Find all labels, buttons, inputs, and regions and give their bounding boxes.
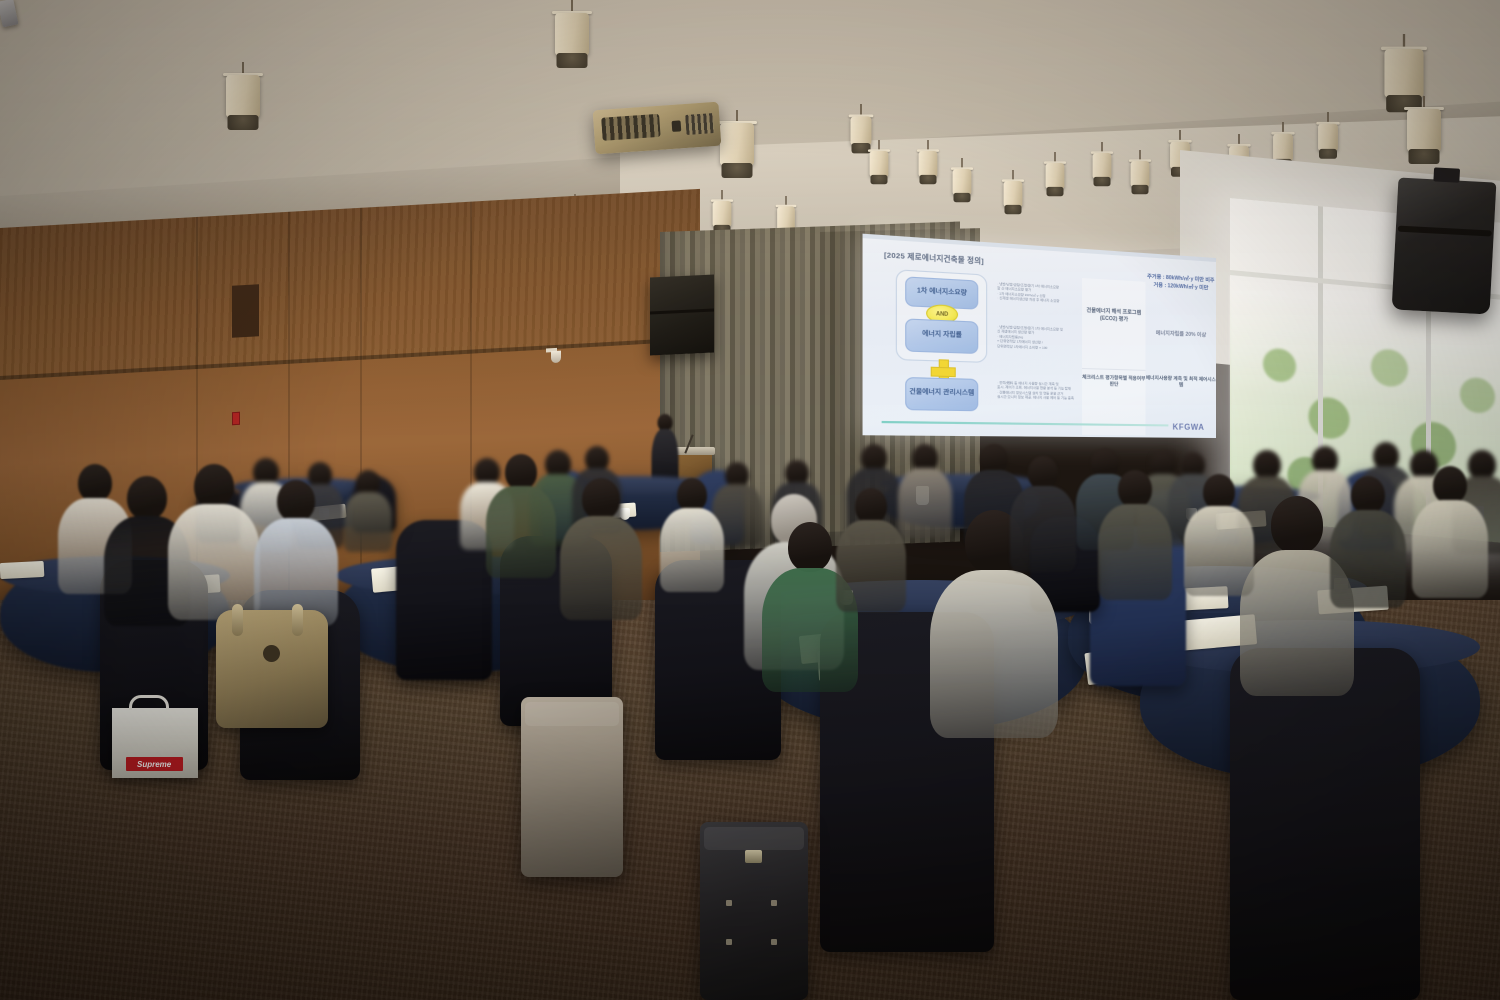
spotlight-body	[713, 201, 732, 227]
attendee	[1330, 476, 1406, 612]
projection-screen: [2025 제로에너지건축물 정의] 1차 에너지소요량 AND 에너지 자립률…	[863, 234, 1216, 438]
spotlight-lens	[1319, 149, 1337, 159]
spotlight-body	[555, 13, 589, 55]
document-paper	[0, 561, 44, 579]
attendee-head	[855, 488, 887, 524]
spotlight-body	[1384, 49, 1423, 97]
attendee-head	[1118, 470, 1152, 508]
attendee	[1412, 466, 1488, 602]
attendee-head	[1271, 496, 1323, 554]
slide-middle-column	[1082, 278, 1145, 435]
tote-brand-label: Supreme	[126, 757, 183, 771]
attendee-head	[127, 476, 167, 520]
attendee-head	[1351, 476, 1385, 514]
attendee	[1098, 470, 1172, 604]
spotlight-lens	[871, 175, 888, 184]
suitcase-lid	[525, 702, 619, 725]
light-gray-rolling-suitcase	[521, 697, 623, 877]
attendee	[836, 488, 906, 616]
attendee-head	[194, 464, 234, 508]
attendee-head	[788, 522, 832, 572]
spotlight-lens	[920, 175, 937, 184]
attendee	[486, 454, 556, 582]
suitcase-stud	[726, 939, 732, 945]
attendee-body	[1412, 500, 1488, 598]
slide-mid-text-checklist: 체크리스트 평가항목별 적용여부 판단	[1082, 374, 1145, 388]
speaker-bracket	[1434, 167, 1461, 182]
suitcase-lid	[704, 827, 803, 850]
tan-backpack	[216, 610, 328, 728]
backpack-strap	[232, 604, 243, 636]
attendee-body	[486, 486, 556, 578]
spotlight-lens	[954, 193, 971, 202]
slide-box-bems: 건물에너지 관리시스템	[905, 377, 978, 411]
attendee	[344, 470, 392, 556]
dark-rolling-suitcase	[700, 822, 808, 1000]
slide-bullets-1: · 냉방/난방/급탕/조명/환기 1차 에너지소요량 합 산 에너지소요량 평가…	[997, 282, 1077, 305]
slide-bullets-3: · 전력/燃料 등 에너지 사용량 실시간 계측 및 표시, 제어가 조회, 에…	[997, 380, 1081, 401]
slide-box-energy-independence: 에너지 자립률	[905, 318, 978, 354]
spotlight-body	[1273, 134, 1293, 161]
spotlight-body	[1004, 181, 1023, 207]
ceiling-mounted-projector	[593, 102, 722, 155]
attendee-body	[1098, 504, 1172, 600]
attendee-body	[344, 492, 392, 552]
attendee-body	[1184, 506, 1254, 596]
attendee-head	[277, 480, 315, 522]
spotlight-lens	[852, 143, 871, 153]
attendee-body	[660, 508, 724, 592]
projector-vent	[601, 114, 660, 141]
slide-content: [2025 제로에너지건축물 정의] 1차 에너지소요량 AND 에너지 자립률…	[863, 234, 1216, 438]
spotlight-lens	[557, 53, 588, 68]
attendee-body	[836, 520, 906, 612]
supreme-tote-bag: Supreme	[112, 708, 198, 778]
fire-alarm-indicator-icon	[232, 412, 240, 425]
spotlight-body	[851, 116, 872, 145]
tote-handle	[129, 695, 169, 710]
attendee	[1010, 456, 1076, 576]
spotlight-body	[953, 169, 972, 195]
spotlight-lens	[1132, 185, 1149, 194]
suitcase-stud	[771, 900, 777, 906]
attendee-body	[1010, 486, 1076, 572]
column-separator	[1082, 368, 1145, 371]
attendee-head	[1433, 466, 1467, 504]
spotlight-body	[1093, 153, 1112, 179]
spotlight-lens	[1094, 177, 1111, 186]
spotlight-lens	[1409, 149, 1440, 164]
backpack-logo-patch	[263, 645, 280, 662]
spotlight-lens	[1005, 205, 1022, 214]
slide-mid-text-eco2: 건물에너지 해석 프로그램 (ECO2) 평가	[1082, 307, 1145, 324]
wall-access-panel	[232, 284, 259, 338]
slide-right-text-independence-rate: 에너지자립률 20% 이상	[1145, 329, 1216, 339]
projector-vent-side	[685, 113, 714, 135]
slide-bullets-2: · 냉방/난방/급탕/조명/환기 1차 에너지소요량 및 신 재생에너지 생산량…	[997, 325, 1077, 352]
spotlight-body	[1407, 109, 1441, 151]
attendee	[660, 478, 724, 596]
attendee-head	[677, 478, 707, 512]
attendee-head	[582, 478, 620, 520]
camera-dome	[551, 351, 561, 364]
backpack-strap	[292, 604, 303, 636]
spotlight-lens	[722, 163, 753, 178]
attendee-body	[1330, 510, 1406, 608]
attendee	[560, 478, 642, 624]
attendee	[168, 464, 260, 624]
spotlight-body	[1046, 163, 1065, 189]
spotlight-lens	[228, 115, 259, 130]
attendee-body	[930, 570, 1058, 738]
suitcase-stud	[771, 939, 777, 945]
spotlight-body	[870, 151, 889, 177]
hanging-line-array-speaker	[1392, 178, 1497, 315]
slide-right-text-thresholds: 주거용 : 80kWh/㎡·y 미만 비주거용 : 120kWh/㎡·y 미만	[1145, 274, 1216, 293]
conference-room-photo: [2025 제로에너지건축물 정의] 1차 에너지소요량 AND 에너지 자립률…	[0, 0, 1500, 1000]
spotlight-lens	[1047, 187, 1064, 196]
attendee-body	[560, 516, 642, 620]
projector-lens	[671, 120, 681, 132]
attendee-body	[168, 504, 260, 620]
spotlight-body	[226, 75, 260, 117]
attendee	[1184, 474, 1254, 600]
security-camera-icon	[546, 348, 562, 365]
slide-logo: KFGWA	[1173, 422, 1205, 431]
suitcase-latch	[745, 850, 762, 863]
speaker-seam	[650, 309, 714, 315]
chair	[1230, 648, 1420, 1000]
spotlight-body	[1318, 124, 1338, 151]
slide-right-text-control-system: 에너지사용량 계측 및 최적 제어시스템	[1145, 376, 1216, 391]
spotlight-body	[1131, 161, 1150, 187]
attendee-head	[1203, 474, 1235, 510]
attendee-head	[505, 454, 537, 490]
suitcase-stud	[726, 900, 732, 906]
speaker-lip	[1398, 225, 1492, 236]
attendee-head	[1028, 456, 1058, 490]
spotlight-body	[919, 151, 938, 177]
slide-title: [2025 제로에너지건축물 정의]	[884, 248, 984, 265]
spotlight-body	[720, 123, 754, 165]
wall-mounted-speaker	[650, 275, 714, 356]
